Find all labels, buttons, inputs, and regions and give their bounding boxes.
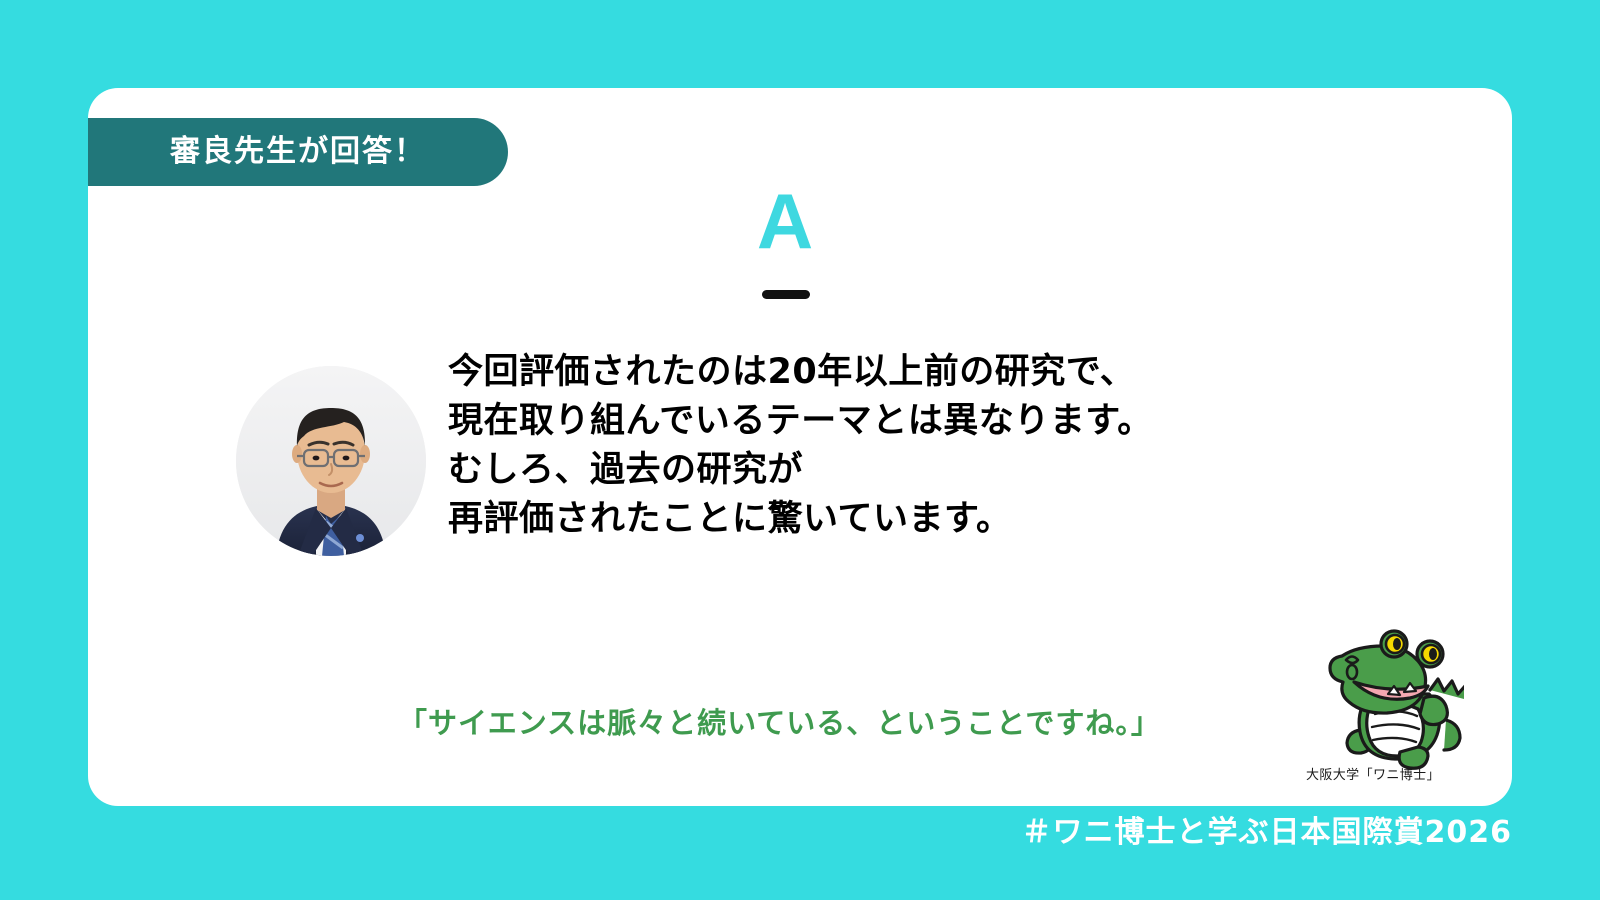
title-divider: [762, 290, 810, 299]
answer-line: 現在取り組んでいるテーマとは異なります。: [448, 397, 1358, 446]
mascot-caption: 大阪大学「ワニ博士」: [1258, 764, 1488, 783]
crocodile-mascot-icon: [1296, 602, 1464, 770]
answer-letter: A: [0, 182, 1570, 260]
answer-badge-label: 審良先生が回答！: [170, 137, 426, 167]
answer-line: むしろ、過去の研究が: [448, 446, 1358, 495]
answer-line: 今回評価されたのは20年以上前の研究で、: [448, 348, 1358, 397]
portrait-photo-icon: [236, 366, 426, 556]
answer-body-text: 今回評価されたのは20年以上前の研究で、 現在取り組んでいるテーマとは異なります…: [448, 348, 1358, 544]
answer-badge: 審良先生が回答！: [88, 118, 508, 186]
campaign-hashtag: ＃ワニ博士と学ぶ日本国際賞2026: [1020, 818, 1512, 848]
speaker-portrait-avatar: [236, 366, 426, 556]
wani-hakase-mascot: [1296, 602, 1464, 770]
slide-canvas: 審良先生が回答！ A: [0, 0, 1600, 900]
pull-quote: 「サイエンスは脈々と続いている、ということですね。」: [398, 706, 1308, 741]
answer-line: 再評価されたことに驚いています。: [448, 495, 1358, 544]
